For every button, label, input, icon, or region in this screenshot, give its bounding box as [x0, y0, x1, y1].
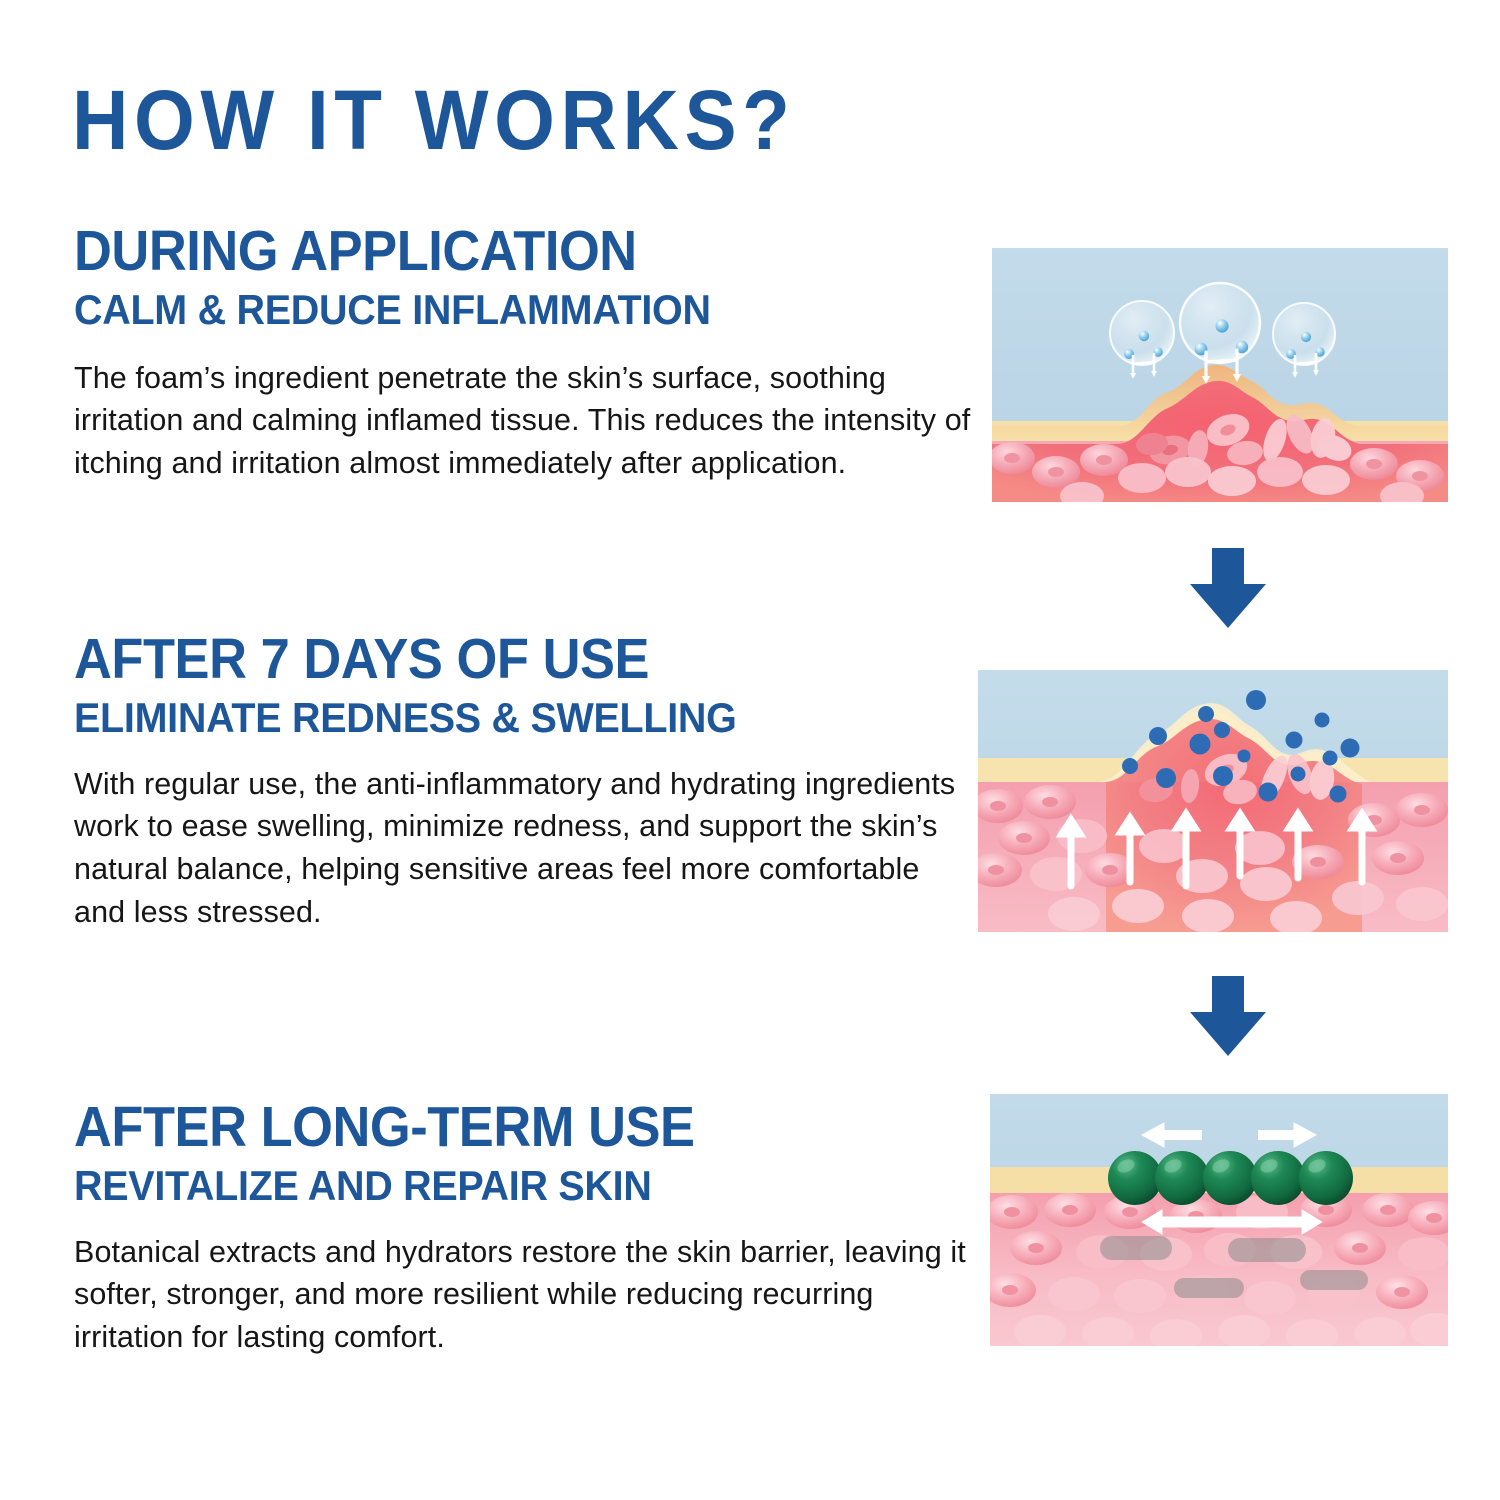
section-2-heading: AFTER 7 DAYS OF USE — [74, 630, 902, 689]
green-spheres — [1108, 1151, 1353, 1205]
section-3-body: Botanical extracts and hydrators restore… — [74, 1231, 974, 1359]
section-2-body: With regular use, the anti-inflammatory … — [74, 763, 974, 934]
section-1-body: The foam’s ingredient penetrate the skin… — [74, 357, 974, 485]
down-arrow-2 — [1182, 972, 1274, 1060]
section-3-subheading: REVITALIZE AND REPAIR SKIN — [74, 1163, 920, 1208]
section-during-application: DURING APPLICATION CALM & REDUCE INFLAMM… — [74, 222, 974, 485]
illustration-after-7-days — [978, 670, 1448, 932]
skin-cross-section-repaired-svg — [990, 1094, 1448, 1346]
infographic-page: HOW IT WORKS? DURING APPLICATION CALM & … — [0, 0, 1500, 1500]
illustration-during-application — [992, 248, 1448, 502]
page-title: HOW IT WORKS? — [72, 78, 795, 162]
section-2-subheading: ELIMINATE REDNESS & SWELLING — [74, 695, 920, 740]
section-1-subheading: CALM & REDUCE INFLAMMATION — [74, 287, 920, 332]
section-1-heading: DURING APPLICATION — [74, 222, 902, 281]
section-after-7-days: AFTER 7 DAYS OF USE ELIMINATE REDNESS & … — [74, 630, 974, 933]
illustration-after-long-term — [990, 1094, 1448, 1346]
down-arrow-icon — [1182, 972, 1274, 1060]
down-arrow-icon — [1182, 544, 1274, 632]
section-after-long-term: AFTER LONG-TERM USE REVITALIZE AND REPAI… — [74, 1098, 974, 1359]
section-3-heading: AFTER LONG-TERM USE — [74, 1098, 902, 1157]
down-arrow-1 — [1182, 544, 1274, 632]
skin-cross-section-actives-svg — [978, 670, 1448, 932]
skin-cross-section-inflamed-svg — [992, 248, 1448, 502]
